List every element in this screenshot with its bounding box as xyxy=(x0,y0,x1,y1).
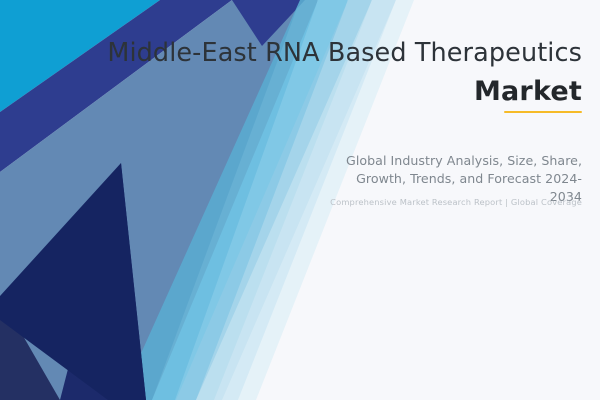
emphasis-word-wrap: Market xyxy=(0,77,582,113)
page-title: Middle-East RNA Based Therapeutics xyxy=(0,38,582,68)
tagline-block: Comprehensive Market Research Report | G… xyxy=(0,197,582,207)
emphasis-word: Market xyxy=(474,77,582,107)
accent-underline xyxy=(504,111,582,114)
title-block: Middle-East RNA Based Therapeutics Marke… xyxy=(0,38,582,113)
report-tagline: Comprehensive Market Research Report | G… xyxy=(0,197,582,207)
report-cover: Middle-East RNA Based Therapeutics Marke… xyxy=(0,0,600,400)
cover-text-layer: Middle-East RNA Based Therapeutics Marke… xyxy=(0,0,600,400)
